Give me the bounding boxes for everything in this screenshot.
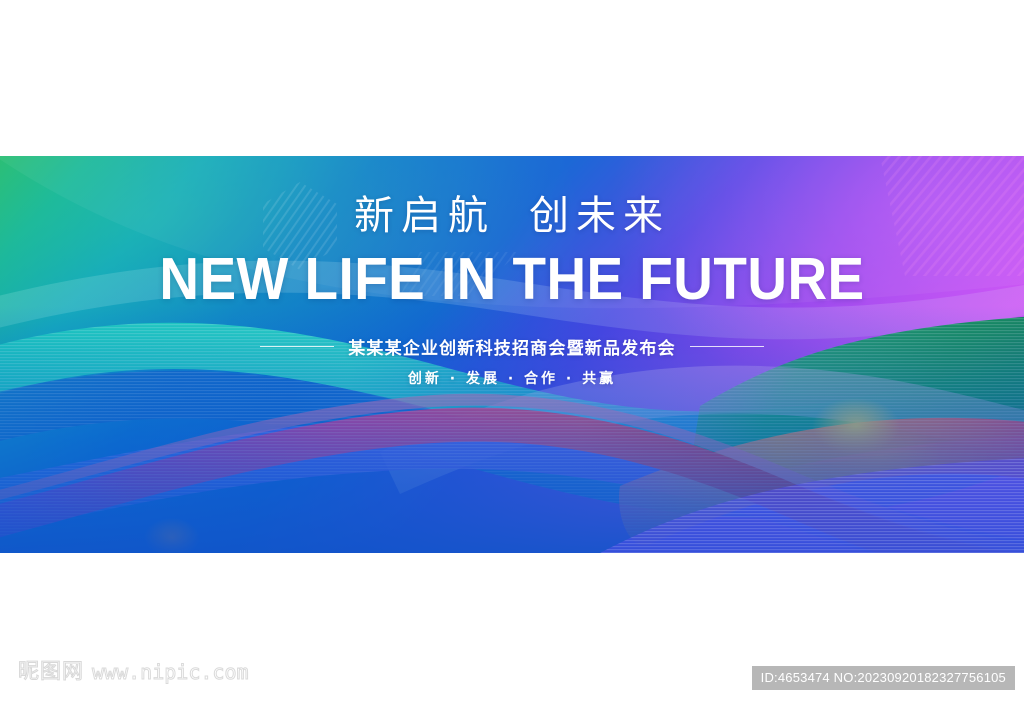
watermark-logo-text: 昵图网	[18, 661, 84, 682]
diagonal-stripes-top-right	[880, 156, 1024, 276]
banner-artwork	[0, 156, 1024, 553]
id-badge: ID:4653474 NO:20230920182327756105	[752, 666, 1015, 690]
watermark: 昵图网 www.nipic.com	[18, 661, 249, 682]
watermark-url-text: www.nipic.com	[92, 662, 249, 682]
banner-background-svg	[0, 156, 1024, 553]
